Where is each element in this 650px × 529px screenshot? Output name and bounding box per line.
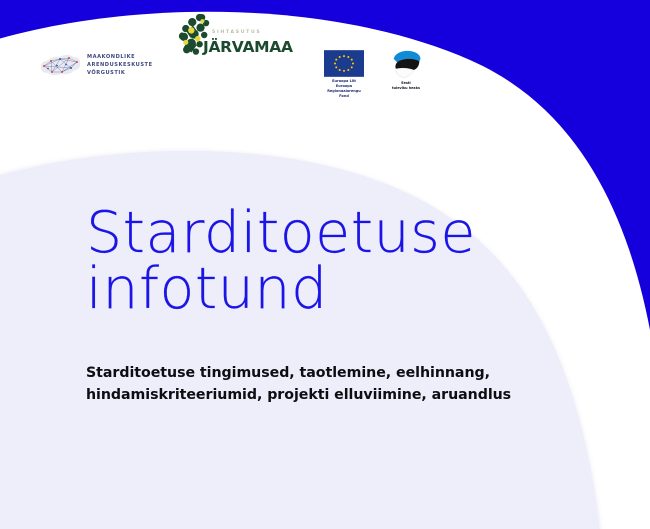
european-union-funding-logo: Euroopa Liit Euroopa Regionaalarengu Fon…	[322, 50, 366, 99]
page-title: Starditoetuse infotund	[86, 206, 586, 318]
title-block: Starditoetuse infotund	[86, 206, 586, 318]
jarvamaa-wordmark: JÄRVAMAA	[203, 38, 293, 56]
presentation-slide: MAAKONDLIKE ARENDUSKESKUSTE VÕRGUSTIK	[0, 0, 650, 529]
estonian-flag-icon	[389, 50, 423, 80]
jarvamaa-eyebrow-text: SIHTASUTUS	[212, 30, 261, 35]
page-subtitle: Starditoetuse tingimused, taotlemine, ee…	[86, 362, 556, 406]
mak-logo-text: MAAKONDLIKE ARENDUSKESKUSTE VÕRGUSTIK	[87, 53, 153, 78]
logo-row: MAAKONDLIKE ARENDUSKESKUSTE VÕRGUSTIK	[0, 0, 650, 110]
funding-logos-group: Euroopa Liit Euroopa Regionaalarengu Fon…	[322, 50, 428, 99]
eu-logo-caption: Euroopa Liit Euroopa Regionaalarengu Fon…	[322, 79, 366, 99]
maakondlike-arenduskeskuste-vorgustik-logo: MAAKONDLIKE ARENDUSKESKUSTE VÕRGUSTIK	[38, 50, 153, 80]
estonia-network-map-icon	[38, 50, 82, 80]
sihtasutus-jarvamaa-logo: SIHTASUTUS JÄRVAMAA	[172, 12, 282, 58]
eu-flag-icon	[324, 50, 364, 77]
estonia-future-funding-logo: Eesti tuleviku heaks	[384, 50, 428, 91]
estonia-logo-caption: Eesti tuleviku heaks	[392, 81, 420, 91]
